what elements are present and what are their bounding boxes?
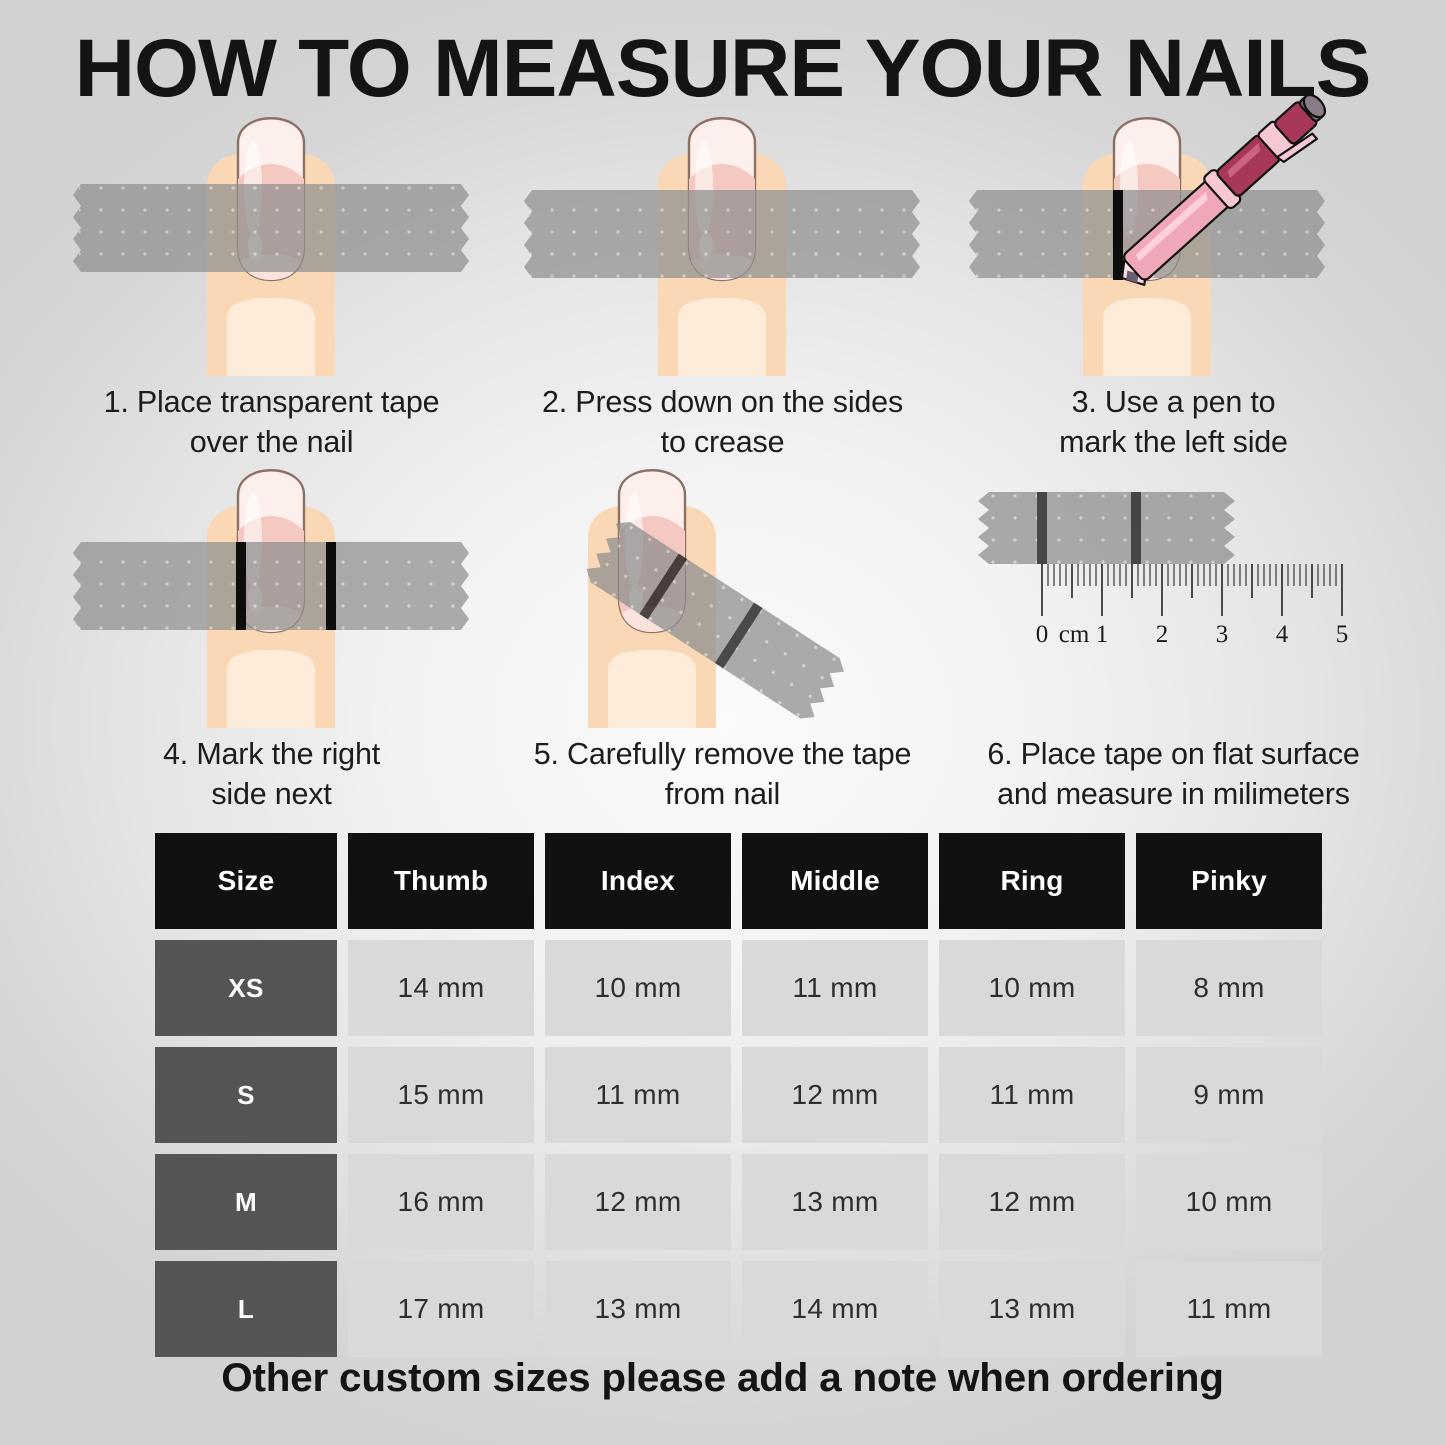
cell-l-ring: 13 mm <box>939 1261 1125 1357</box>
step-1: 1. Place transparent tape over the nail <box>55 118 488 462</box>
header-index: Index <box>545 833 731 929</box>
steps-grid: 1. Place transparent tape over the nail <box>0 118 1445 818</box>
step-4-line1: 4. Mark the right <box>55 734 488 774</box>
step-1-line1: 1. Place transparent tape <box>55 382 488 422</box>
cell-xs-pinky: 8 mm <box>1136 940 1322 1036</box>
table-row: M 16 mm 12 mm 13 mm 12 mm 10 mm <box>155 1154 1323 1250</box>
cell-s-index: 11 mm <box>545 1047 731 1143</box>
cell-xs-ring: 10 mm <box>939 940 1125 1036</box>
cell-m-ring: 12 mm <box>939 1154 1125 1250</box>
ruler-icon: 0 cm 1 2 3 4 5 <box>1036 564 1349 648</box>
step-4-caption: 4. Mark the right side next <box>55 734 488 814</box>
cell-xs-thumb: 14 mm <box>348 940 534 1036</box>
cell-l-thumb: 17 mm <box>348 1261 534 1357</box>
footer-note: Other custom sizes please add a note whe… <box>0 1356 1445 1401</box>
cell-l-index: 13 mm <box>545 1261 731 1357</box>
step-6: 0 cm 1 2 3 4 5 6. Place tape on flat sur… <box>957 470 1390 814</box>
size-label-m: M <box>155 1154 337 1250</box>
tape-strip-creased <box>524 190 920 278</box>
cell-s-middle: 12 mm <box>742 1047 928 1143</box>
ruler-tick-3: 3 <box>1216 621 1229 648</box>
step-2-line2: to crease <box>506 422 939 462</box>
pen-mark-right <box>1131 492 1141 564</box>
step-4: 4. Mark the right side next <box>55 470 488 814</box>
step-5-caption: 5. Carefully remove the tape from nail <box>506 734 939 814</box>
cell-s-thumb: 15 mm <box>348 1047 534 1143</box>
step-3: 3. Use a pen to mark the left side <box>957 118 1390 462</box>
ruler-tick-5: 5 <box>1336 621 1349 648</box>
pen-mark-left <box>1037 492 1047 564</box>
step-6-line2: and measure in milimeters <box>957 774 1390 814</box>
step-3-illustration <box>957 118 1390 376</box>
step-4-line2: side next <box>55 774 488 814</box>
step-4-illustration <box>55 470 488 728</box>
pen-mark-right <box>326 542 336 630</box>
step-3-caption: 3. Use a pen to mark the left side <box>957 382 1390 462</box>
size-label-s: S <box>155 1047 337 1143</box>
step-1-illustration <box>55 118 488 376</box>
ruler-tick-4: 4 <box>1276 621 1289 648</box>
step-5-line2: from nail <box>506 774 939 814</box>
header-pinky: Pinky <box>1136 833 1322 929</box>
step-1-line2: over the nail <box>55 422 488 462</box>
cell-s-pinky: 9 mm <box>1136 1047 1322 1143</box>
step-2: 2. Press down on the sides to crease <box>506 118 939 462</box>
step-1-caption: 1. Place transparent tape over the nail <box>55 382 488 462</box>
step-5-line1: 5. Carefully remove the tape <box>506 734 939 774</box>
ruler-tick-1: 1 <box>1096 621 1109 648</box>
cell-m-pinky: 10 mm <box>1136 1154 1322 1250</box>
table-header-row: Size Thumb Index Middle Ring Pinky <box>155 833 1323 929</box>
ruler-tick-0: 0 <box>1036 621 1049 648</box>
tape-strip <box>73 542 469 630</box>
tape-strip <box>73 184 469 272</box>
tape-strip-flat <box>978 492 1235 564</box>
step-3-line1: 3. Use a pen to <box>957 382 1390 422</box>
header-middle: Middle <box>742 833 928 929</box>
cell-m-thumb: 16 mm <box>348 1154 534 1250</box>
cell-xs-index: 10 mm <box>545 940 731 1036</box>
step-2-line1: 2. Press down on the sides <box>506 382 939 422</box>
cell-s-ring: 11 mm <box>939 1047 1125 1143</box>
ruler-unit-label: cm <box>1059 621 1090 648</box>
cell-l-middle: 14 mm <box>742 1261 928 1357</box>
header-thumb: Thumb <box>348 833 534 929</box>
step-3-line2: mark the left side <box>957 422 1390 462</box>
ruler-tick-2: 2 <box>1156 621 1169 648</box>
step-2-caption: 2. Press down on the sides to crease <box>506 382 939 462</box>
cell-xs-middle: 11 mm <box>742 940 928 1036</box>
pen-mark-left <box>236 542 246 630</box>
cell-m-middle: 13 mm <box>742 1154 928 1250</box>
step-5: 5. Carefully remove the tape from nail <box>506 470 939 814</box>
step-5-illustration <box>506 470 939 728</box>
step-6-line1: 6. Place tape on flat surface <box>957 734 1390 774</box>
cell-l-pinky: 11 mm <box>1136 1261 1322 1357</box>
table-row: XS 14 mm 10 mm 11 mm 10 mm 8 mm <box>155 940 1323 1036</box>
table-row: L 17 mm 13 mm 14 mm 13 mm 11 mm <box>155 1261 1323 1357</box>
pen-mark-left <box>1113 190 1123 280</box>
header-size: Size <box>155 833 337 929</box>
step-6-caption: 6. Place tape on flat surface and measur… <box>957 734 1390 814</box>
size-label-l: L <box>155 1261 337 1357</box>
page-title: HOW TO MEASURE YOUR NAILS <box>0 22 1445 116</box>
step-6-illustration: 0 cm 1 2 3 4 5 <box>957 470 1390 728</box>
size-label-xs: XS <box>155 940 337 1036</box>
cell-m-index: 12 mm <box>545 1154 731 1250</box>
header-ring: Ring <box>939 833 1125 929</box>
step-2-illustration <box>506 118 939 376</box>
infographic-page: HOW TO MEASURE YOUR NAILS <box>0 0 1445 1445</box>
table-row: S 15 mm 11 mm 12 mm 11 mm 9 mm <box>155 1047 1323 1143</box>
size-chart-table: Size Thumb Index Middle Ring Pinky XS 14… <box>155 833 1323 1368</box>
